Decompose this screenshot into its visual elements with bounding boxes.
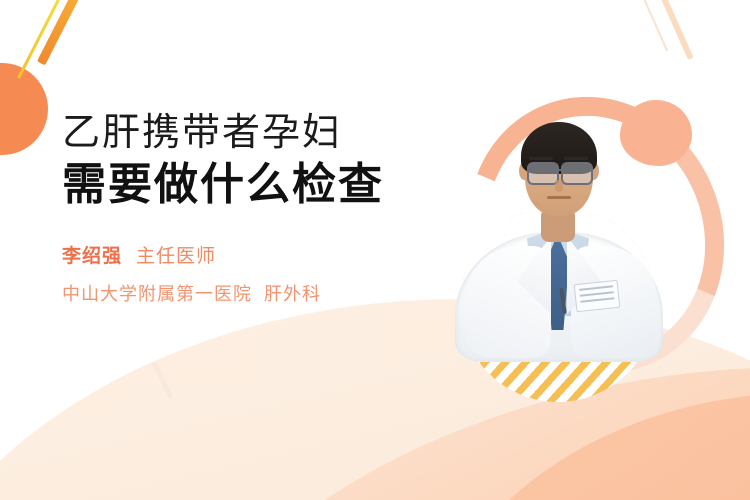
doctor-name: 李绍强: [62, 246, 122, 267]
diagonal-stripe-faint-icon: [151, 361, 173, 399]
person-figure: [443, 96, 675, 358]
glasses-lens-right: [561, 162, 593, 185]
text-block: 乙肝携带者孕妇 需要做什么检查 李绍强主任医师 中山大学附属第一医院肝外科: [62, 110, 442, 308]
video-cover-card: 乙肝携带者孕妇 需要做什么检查 李绍强主任医师 中山大学附属第一医院肝外科: [0, 0, 750, 500]
title-line-2: 需要做什么检查: [62, 158, 442, 212]
glasses-bridge: [555, 169, 563, 171]
nose: [555, 180, 563, 192]
title-line-1: 乙肝携带者孕妇: [62, 110, 442, 156]
diagonal-stripe-orange-icon: [37, 0, 84, 65]
eyebrow-left: [529, 157, 553, 160]
doctor-portrait: [443, 96, 675, 358]
diagonal-stripe-yellow-icon: [17, 0, 66, 79]
department-name: 肝外科: [264, 284, 321, 304]
eyebrow-right: [564, 157, 588, 160]
affiliation: 中山大学附属第一医院肝外科: [62, 280, 442, 308]
mouth: [547, 196, 571, 199]
hospital-name: 中山大学附属第一医院: [62, 284, 252, 304]
byline: 李绍强主任医师: [62, 242, 442, 272]
glasses-lens-left: [527, 162, 559, 185]
doctor-photo: [443, 96, 675, 358]
orange-circle-decor: [0, 63, 48, 155]
diagonal-stripe-peach-thin-icon: [638, 0, 668, 51]
doctor-title: 主任医师: [136, 246, 216, 267]
diagonal-stripe-peach-icon: [656, 0, 693, 60]
id-badge: [574, 280, 621, 312]
